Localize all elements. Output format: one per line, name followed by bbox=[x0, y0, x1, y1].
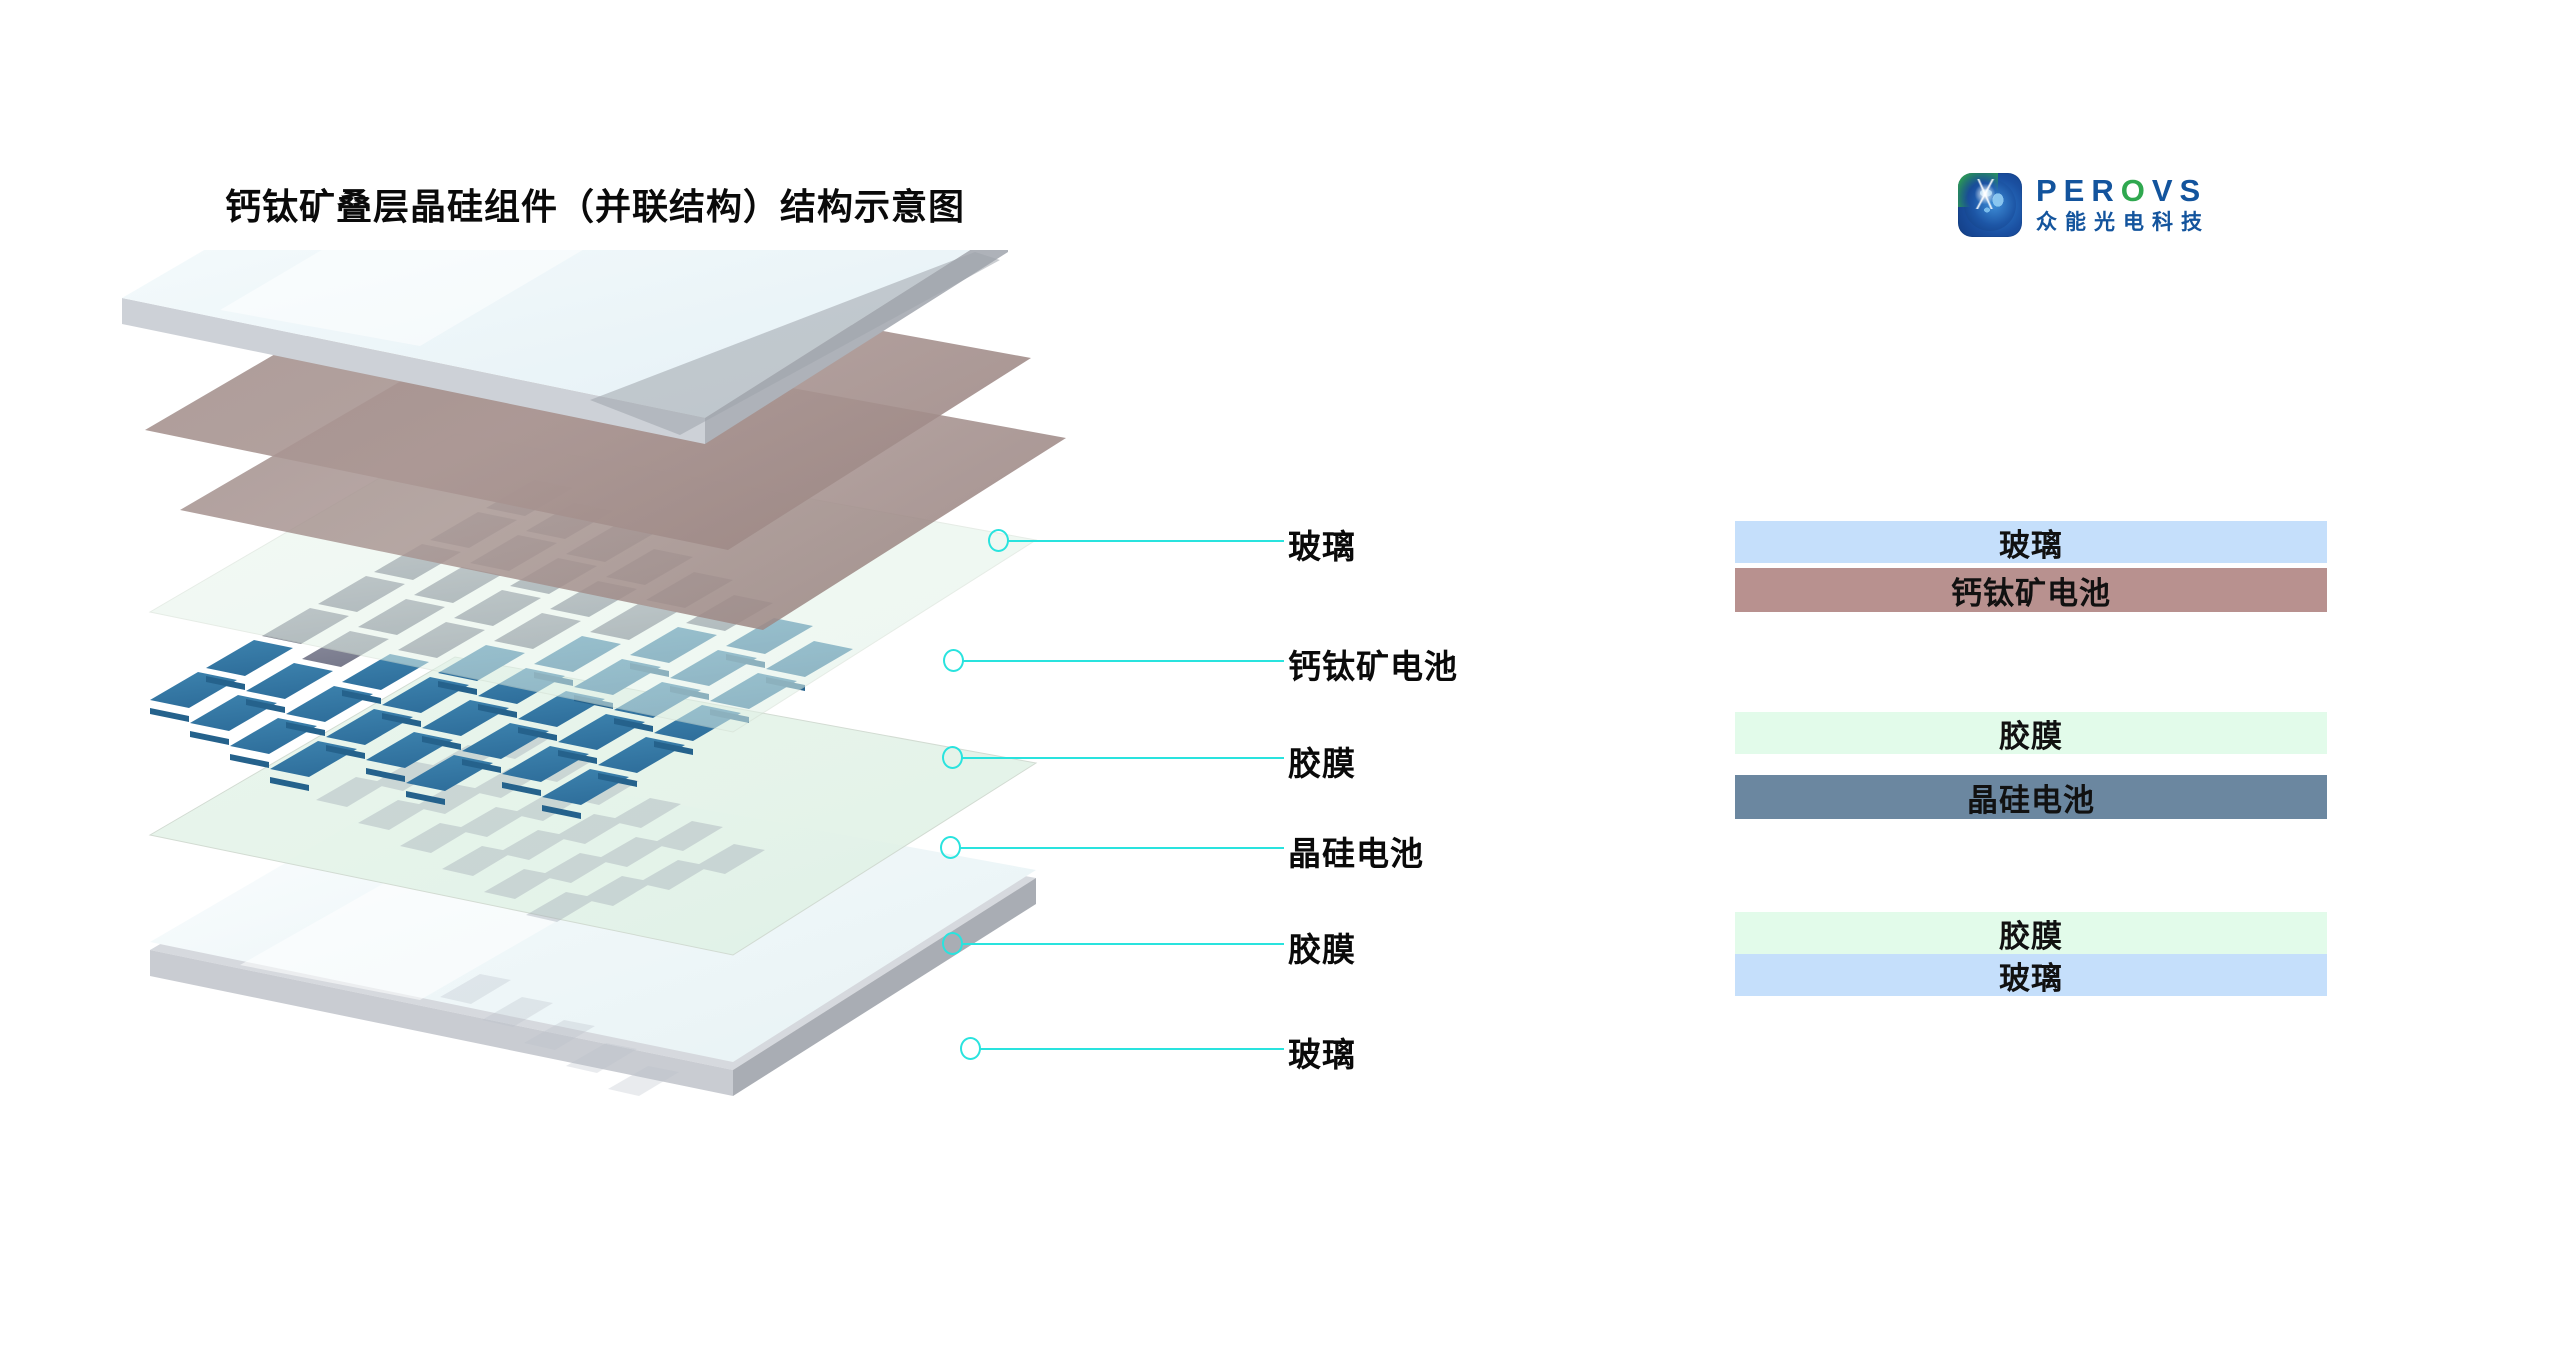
brand-logo: PEROVS 众能光电科技 bbox=[1958, 168, 2358, 244]
stack-bar-label: 晶硅电池 bbox=[1967, 775, 2095, 820]
callout-dot-silicon-cell bbox=[940, 836, 961, 859]
stack-bar-glass-back: 玻璃 bbox=[1735, 954, 2327, 996]
stack-bar-label: 玻璃 bbox=[1999, 953, 2063, 998]
exploded-module-diagram bbox=[120, 380, 1180, 1210]
callout-label-glass-top: 玻璃 bbox=[1288, 520, 1356, 568]
stack-bar-silicon-cell: 晶硅电池 bbox=[1735, 775, 2327, 819]
stack-bar-label: 钙钛矿电池 bbox=[1951, 568, 2111, 613]
callout-label-encapsulant-bottom: 胶膜 bbox=[1288, 923, 1356, 971]
brand-text: PEROVS 众能光电科技 bbox=[2036, 174, 2210, 236]
callout-line-perovskite bbox=[963, 660, 1284, 662]
brand-wordmark: PEROVS bbox=[2036, 174, 2210, 208]
callout-line-silicon-cell bbox=[960, 847, 1284, 849]
brand-subtitle: 众能光电科技 bbox=[2036, 210, 2210, 236]
callout-line-encapsulant-top bbox=[962, 757, 1284, 759]
wordmark-part2: VS bbox=[2152, 173, 2207, 208]
callout-label-silicon-cell: 晶硅电池 bbox=[1288, 827, 1424, 875]
callout-line-glass-back bbox=[980, 1048, 1284, 1050]
stack-bar-encapsulant-bottom: 胶膜 bbox=[1735, 912, 2327, 954]
stack-bar-glass-top: 玻璃 bbox=[1735, 521, 2327, 563]
callout-label-encapsulant-top: 胶膜 bbox=[1288, 737, 1356, 785]
stack-bar-label: 胶膜 bbox=[1999, 911, 2063, 956]
callout-label-glass-back: 玻璃 bbox=[1288, 1028, 1356, 1076]
layer-stack-legend: 玻璃 钙钛矿电池 胶膜 晶硅电池 胶膜 玻璃 bbox=[1735, 515, 2327, 975]
callout-dot-encapsulant-top bbox=[942, 746, 963, 769]
stack-bar-label: 胶膜 bbox=[1999, 711, 2063, 756]
callout-dot-glass-top bbox=[988, 529, 1009, 552]
globe-starburst bbox=[1968, 179, 2002, 209]
wordmark-part1: PER bbox=[2036, 173, 2121, 208]
stack-bar-encapsulant-top: 胶膜 bbox=[1735, 712, 2327, 754]
callout-dot-perovskite bbox=[943, 649, 964, 672]
callout-line-glass-top bbox=[1008, 540, 1284, 542]
callout-dot-encapsulant-bottom bbox=[942, 932, 963, 955]
stack-bar-perovskite: 钙钛矿电池 bbox=[1735, 568, 2327, 612]
callout-dot-glass-back bbox=[960, 1037, 981, 1060]
callout-line-encapsulant-bottom bbox=[962, 943, 1284, 945]
globe-logo-icon bbox=[1958, 173, 2022, 237]
stack-bar-label: 玻璃 bbox=[1999, 520, 2063, 565]
wordmark-accent: O bbox=[2121, 173, 2152, 208]
callout-label-perovskite: 钙钛矿电池 bbox=[1288, 640, 1458, 688]
page-title: 钙钛矿叠层晶硅组件（并联结构）结构示意图 bbox=[225, 178, 965, 230]
